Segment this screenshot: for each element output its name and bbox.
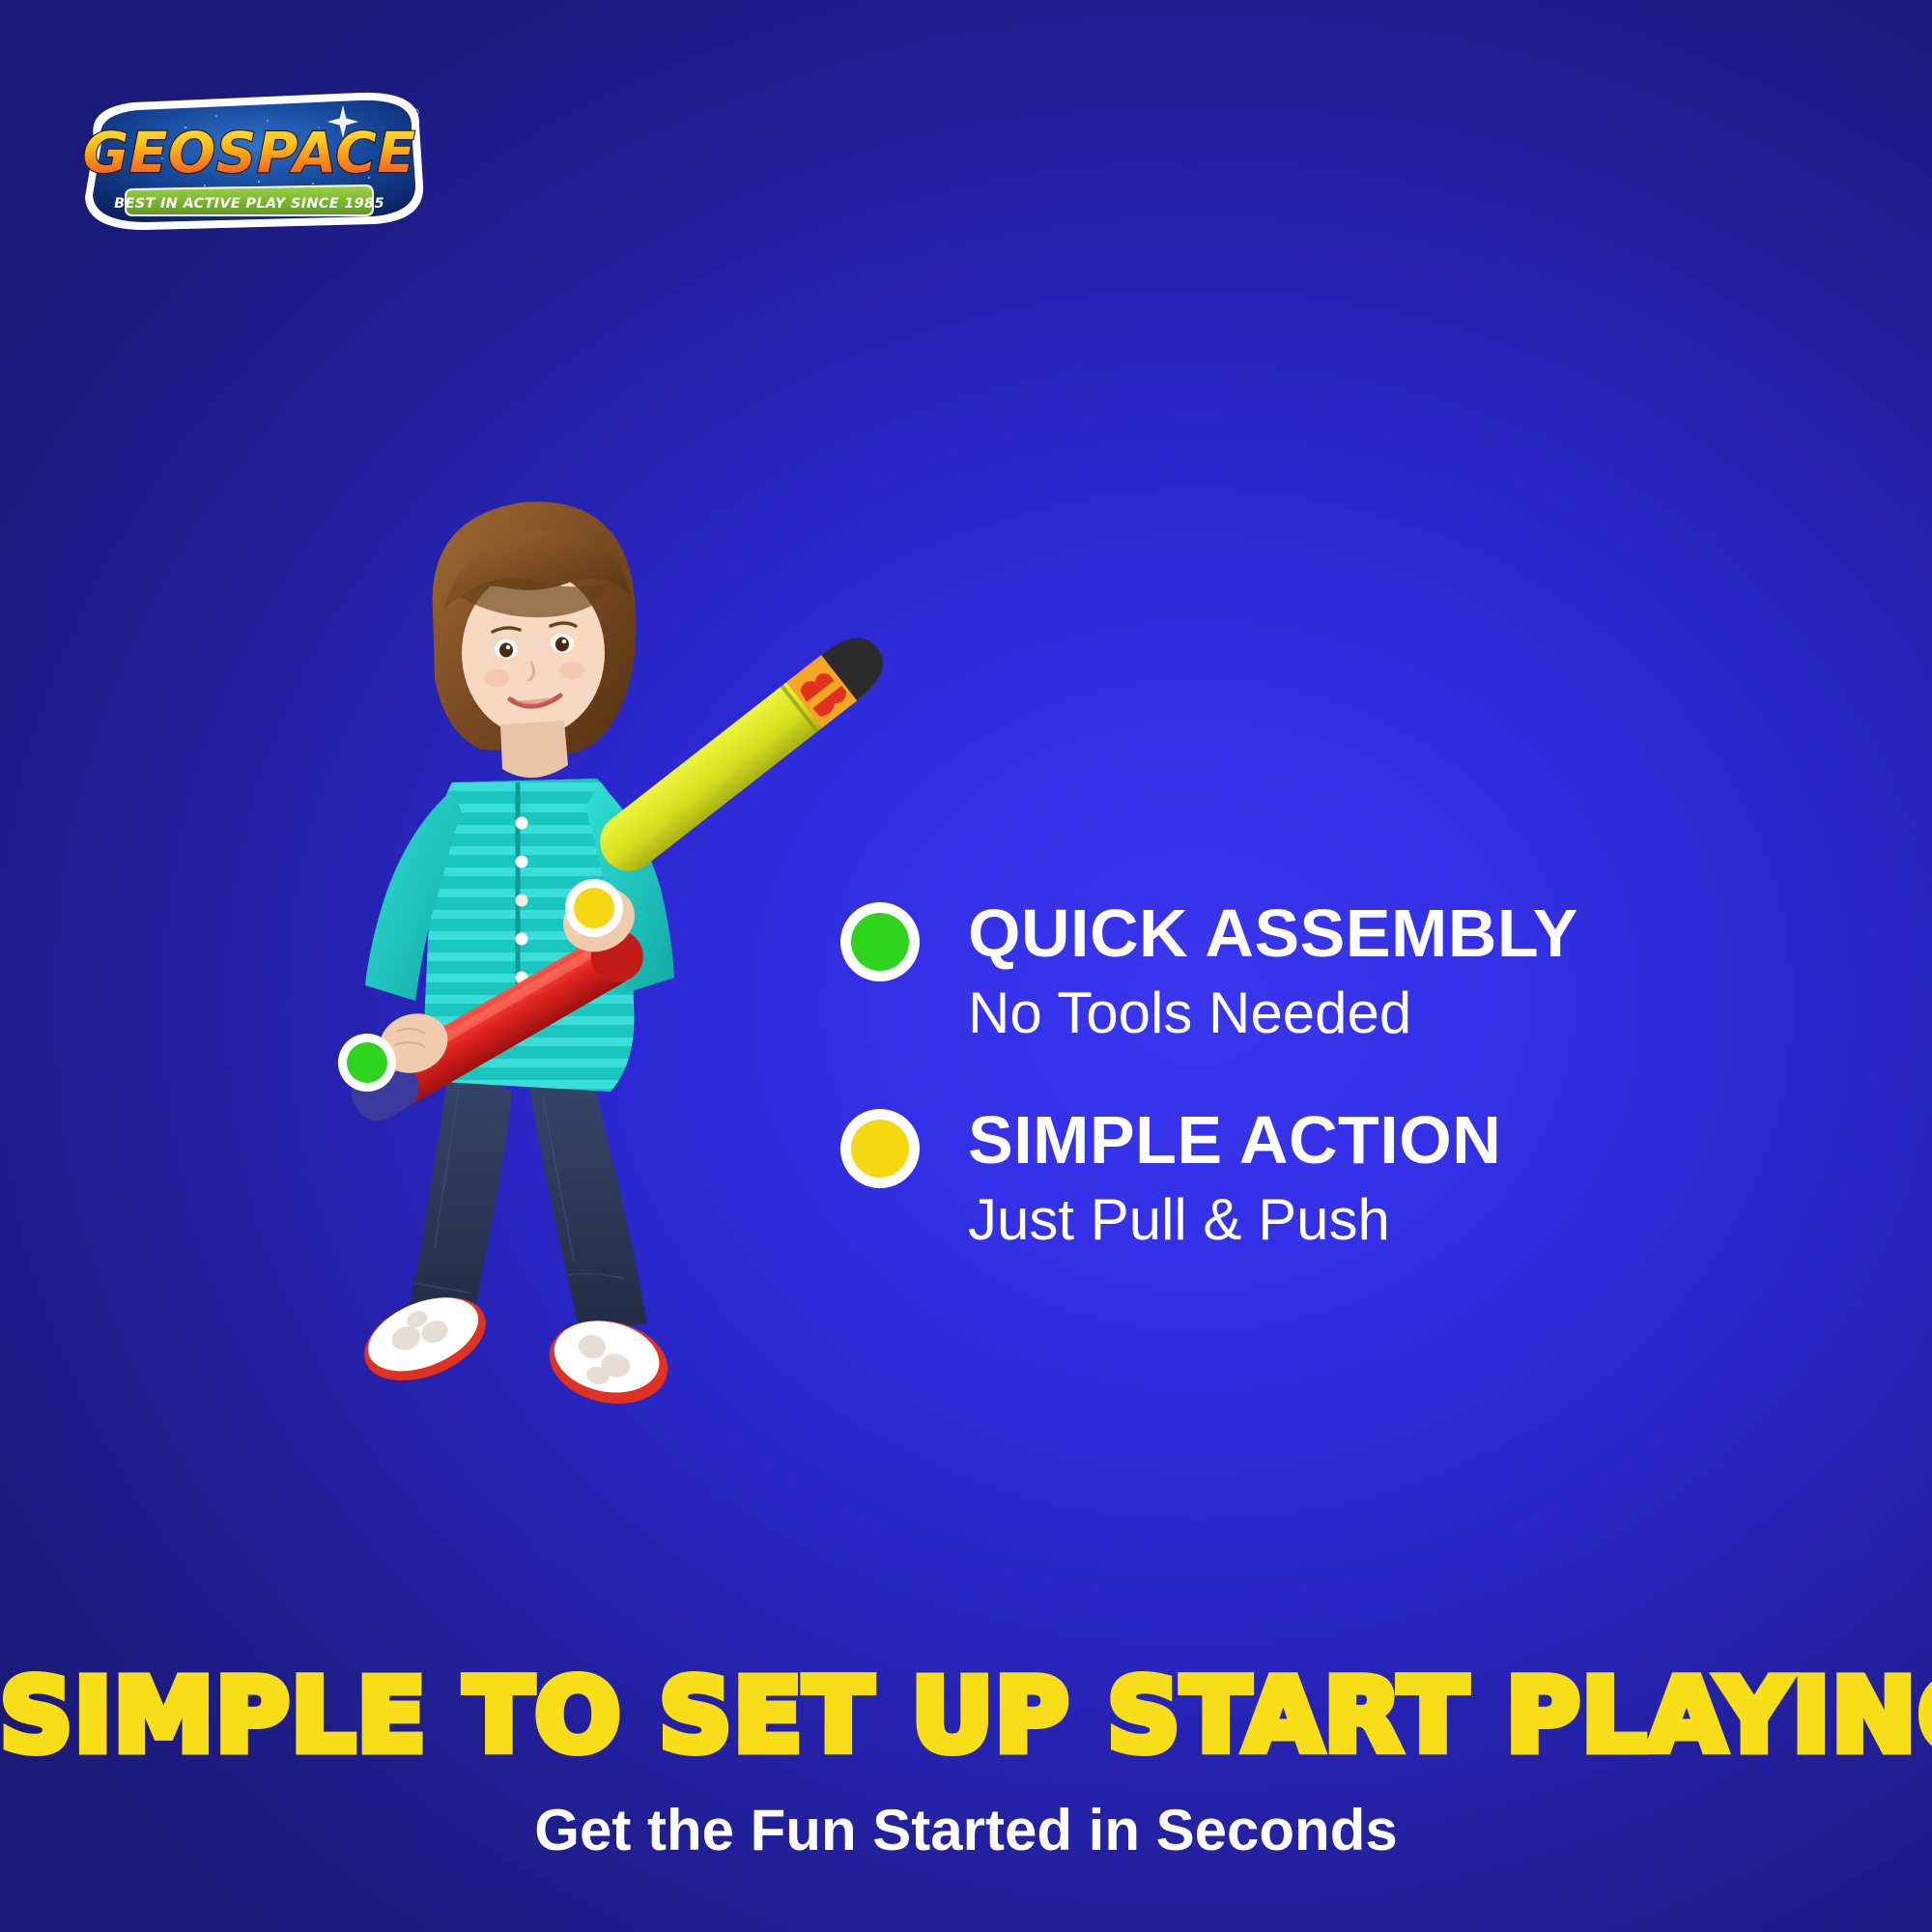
green-dot-inner: [851, 913, 909, 971]
callout-dot-green-on-product: [338, 1034, 396, 1092]
feature-text-block: SIMPLE ACTION Just Pull & Push: [840, 1105, 1864, 1252]
toy-foam-rocket: [588, 625, 895, 882]
photo-child-head: [433, 501, 637, 778]
feature-title: SIMPLE ACTION: [968, 1105, 1864, 1176]
feature-subtitle: Just Pull & Push: [968, 1187, 1864, 1252]
feature-title: QUICK ASSEMBLY: [968, 898, 1864, 969]
registered-mark-icon: ®: [410, 106, 420, 119]
feature-item-simple-action: SIMPLE ACTION Just Pull & Push: [840, 1105, 1864, 1252]
bottom-headline-block: SIMPLE TO SET UP START PLAYING Get the F…: [0, 1665, 1932, 1862]
callout-dot-yellow-on-product: [565, 879, 623, 937]
logo-tagline-banner: BEST IN ACTIVE PLAY SINCE 1985: [114, 185, 384, 215]
yellow-dot-bullet-icon: [840, 1109, 920, 1188]
green-dot-bullet-icon: [840, 902, 920, 981]
feature-subtitle: No Tools Needed: [968, 980, 1864, 1045]
photo-jeans: [406, 1063, 647, 1333]
logo-brand-text: GEOSPACE: [83, 120, 416, 185]
feature-list: QUICK ASSEMBLY No Tools Needed SIMPLE AC…: [840, 898, 1864, 1252]
yellow-dot-inner: [851, 1120, 909, 1178]
geospace-logo: GEOSPACE ® BEST IN ACTIVE PLAY SINCE 198…: [70, 89, 429, 232]
promo-graphic-canvas: GEOSPACE ® BEST IN ACTIVE PLAY SINCE 198…: [0, 0, 1932, 1932]
logo-tagline-text: BEST IN ACTIVE PLAY SINCE 1985: [114, 196, 384, 212]
headline-subtitle: Get the Fun Started in Seconds: [0, 1799, 1932, 1862]
main-headline: SIMPLE TO SET UP START PLAYING: [0, 1665, 1932, 1766]
feature-text-block: QUICK ASSEMBLY No Tools Needed: [840, 898, 1864, 1045]
feature-item-quick-assembly: QUICK ASSEMBLY No Tools Needed: [840, 898, 1864, 1045]
